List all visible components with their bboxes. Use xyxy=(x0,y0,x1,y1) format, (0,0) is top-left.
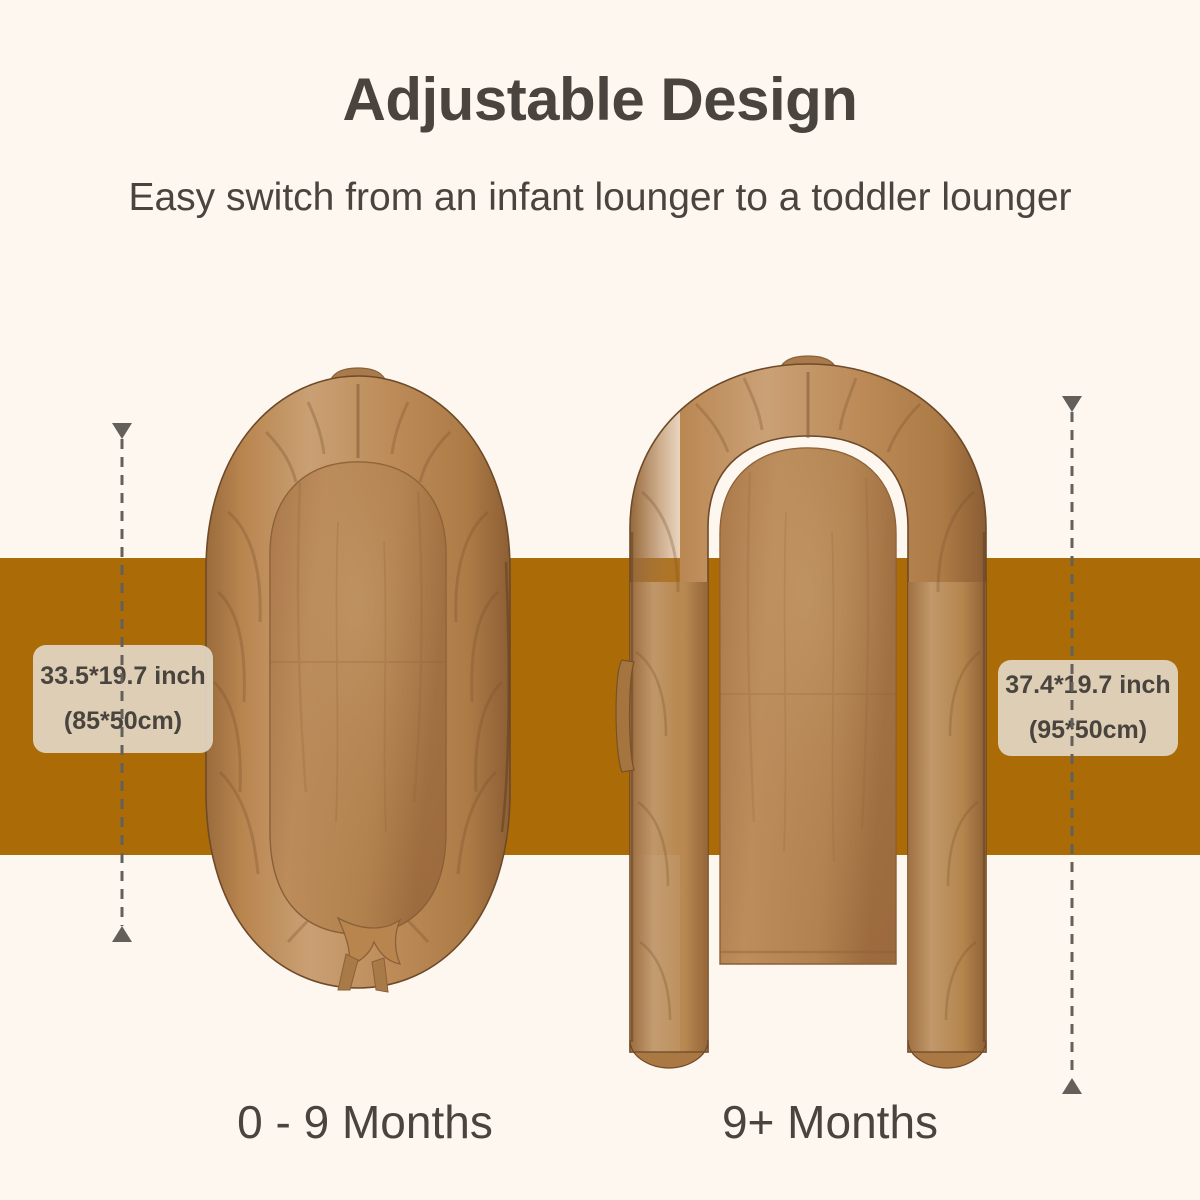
product-image-infant-lounger xyxy=(188,362,528,1002)
page-subtitle: Easy switch from an infant lounger to a … xyxy=(0,175,1200,222)
triangle-down-icon xyxy=(1062,396,1082,412)
product-image-toddler-lounger xyxy=(608,352,1008,1082)
page-title: Adjustable Design xyxy=(0,68,1200,133)
triangle-up-icon xyxy=(112,926,132,942)
mattress-panel xyxy=(720,448,896,964)
triangle-down-icon xyxy=(112,423,132,439)
caption-toddler-lounger: 9+ Months xyxy=(640,1095,1020,1149)
triangle-up-icon xyxy=(1062,1078,1082,1094)
dimension-arrow-infant xyxy=(100,415,144,950)
dimension-arrow-toddler xyxy=(1051,388,1095,1103)
infographic-canvas: Adjustable Design Easy switch from an in… xyxy=(0,0,1200,1200)
mattress-panel xyxy=(270,462,446,934)
caption-infant-lounger: 0 - 9 Months xyxy=(150,1095,580,1149)
